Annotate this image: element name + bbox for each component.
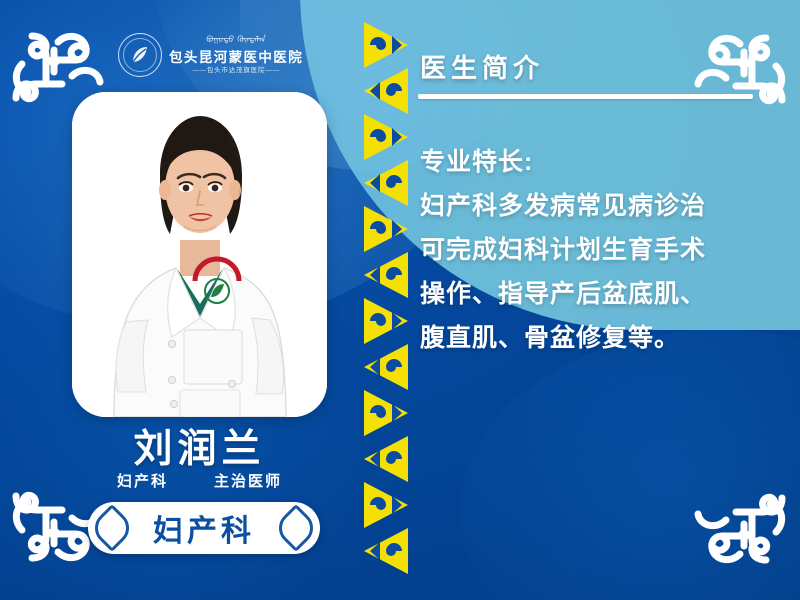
mongolian-scroll-corner-icon <box>692 490 796 576</box>
doctor-department: 妇产科 <box>117 470 168 491</box>
hospital-logo-text: ᠪᠤᠭᠤᠲᠤ ᠬᠥᠨᠳᠡᠯᠡᠨ 包头昆河蒙医中医院 ——包头市达茂旗医院—— <box>169 36 303 74</box>
mongolian-zigzag-band-icon <box>362 22 412 578</box>
leaf-emblem-icon <box>128 43 152 67</box>
page-title: 医生简介 <box>420 48 544 85</box>
doctor-name: 刘润兰 <box>72 418 327 474</box>
doctor-bio: 专业特长: 妇产科多发病常见病诊治 可完成妇科计划生育手术 操作、指导产后盆底肌… <box>420 140 776 360</box>
hospital-mongolian-name: ᠪᠤᠭᠤᠲᠤ ᠬᠥᠨᠳᠡᠯᠡᠨ <box>206 36 265 49</box>
doctor-title: 主治医师 <box>214 470 282 491</box>
title-underline <box>418 94 753 99</box>
bio-line: 操作、指导产后盆底肌、 <box>420 272 776 316</box>
bio-line: 专业特长: <box>420 140 776 184</box>
doctor-portrait <box>72 92 327 417</box>
doctor-meta: 妇产科 主治医师 <box>72 470 327 491</box>
doctor-photo-frame <box>72 92 327 417</box>
doctor-profile-card: ᠪᠤᠭᠤᠲᠤ ᠬᠥᠨᠳᠡᠯᠡᠨ 包头昆河蒙医中医院 ——包头市达茂旗医院—— <box>0 0 800 600</box>
hospital-seal-icon <box>118 33 162 77</box>
department-banner: 妇产科 <box>88 502 320 554</box>
bio-line: 腹直肌、骨盆修复等。 <box>420 316 776 360</box>
bio-line: 可完成妇科计划生育手术 <box>420 228 776 272</box>
doctor-portrait-illustration <box>72 92 327 417</box>
bio-line: 妇产科多发病常见病诊治 <box>420 184 776 228</box>
hospital-subtitle: ——包头市达茂旗医院—— <box>192 68 280 75</box>
department-banner-label: 妇产科 <box>153 506 255 550</box>
hospital-logo: ᠪᠤᠭᠤᠲᠤ ᠬᠥᠨᠳᠡᠯᠡᠨ 包头昆河蒙医中医院 ——包头市达茂旗医院—— <box>118 33 303 77</box>
hospital-name: 包头昆河蒙医中医院 <box>169 51 303 65</box>
